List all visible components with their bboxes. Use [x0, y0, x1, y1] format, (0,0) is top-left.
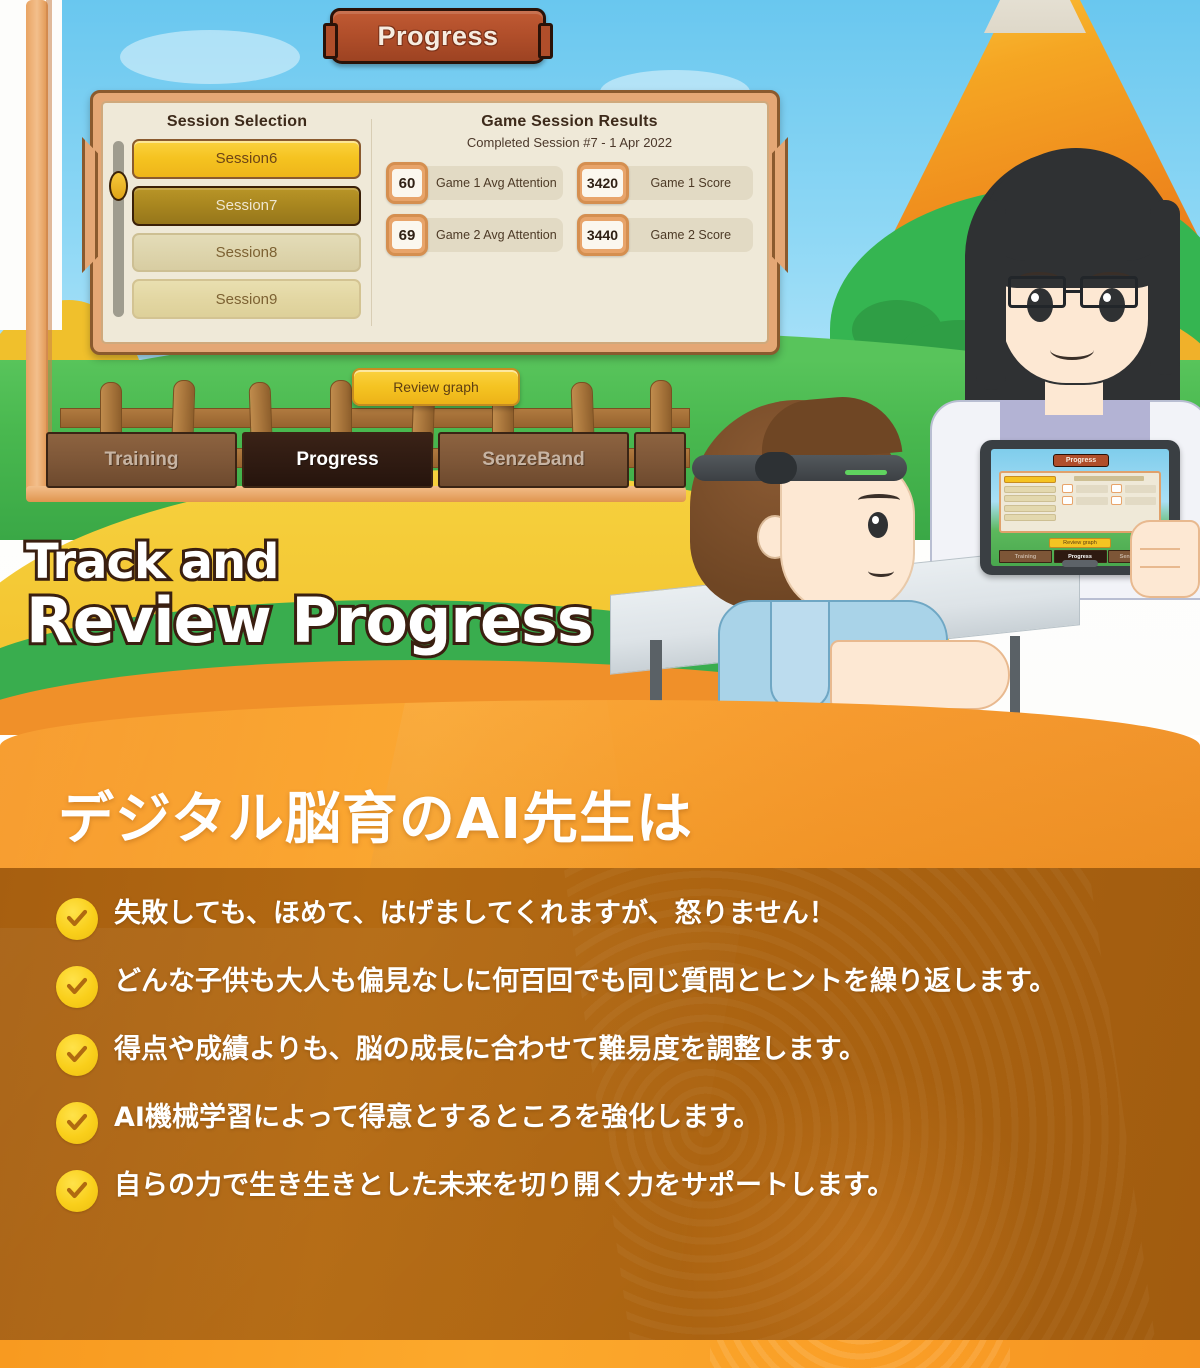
bullet-item-2: どんな子供も大人も偏見なしに何百回でも同じ質問とヒントを繰り返します。	[56, 964, 1160, 1008]
progress-panel-frame: Session Selection Session6 Session7 Sess…	[90, 90, 780, 355]
hand-crease	[1140, 566, 1180, 568]
tablet-review-button: Review graph	[1049, 538, 1111, 548]
headline-block: Track and Review Progress	[26, 538, 593, 652]
boy-mouth	[868, 565, 894, 577]
bullet-text: AI機械学習によって得意とするところを強化します。	[114, 1100, 760, 1137]
session-item-3[interactable]: Session8	[132, 233, 361, 273]
tablet-metric-label	[1076, 485, 1108, 493]
metric-game2-score: 3440 Game 2 Score	[577, 214, 754, 256]
cloud-icon	[120, 30, 300, 84]
tablet-metric-row	[1062, 484, 1156, 493]
bullet-text: 失敗しても、ほめて、はげましてくれますが、怒りません！	[114, 896, 836, 933]
session-item-1[interactable]: Session6	[132, 139, 361, 179]
tablet-session-item	[1004, 486, 1056, 493]
tab-training[interactable]: Training	[46, 432, 237, 488]
metric-value: 60	[392, 169, 422, 197]
device-bezel-inner-left	[46, 0, 52, 492]
review-graph-button[interactable]: Review graph	[352, 368, 520, 406]
check-icon	[56, 1170, 98, 1212]
tablet-metric-label	[1125, 485, 1157, 493]
glasses-icon	[1080, 276, 1138, 308]
metric-label: Game 2 Score	[623, 218, 754, 252]
session-item-2[interactable]: Session7	[132, 186, 361, 226]
bottom-swirl	[710, 1340, 1010, 1368]
metric-value-chip: 3420	[577, 162, 629, 204]
glasses-bridge	[1064, 290, 1082, 293]
check-icon	[56, 966, 98, 1008]
tablet-metric-chip	[1062, 484, 1073, 493]
metric-value: 3420	[582, 169, 623, 197]
metric-value-chip: 60	[386, 162, 428, 204]
metric-label: Game 2 Avg Attention	[422, 218, 563, 252]
bottom-accent-strip	[0, 1340, 1200, 1368]
bullet-text: どんな子供も大人も偏見なしに何百回でも同じ質問とヒントを繰り返します。	[114, 964, 1056, 1001]
girl-hand	[1130, 520, 1200, 598]
device-bezel-bottom	[26, 486, 686, 502]
girl-hair-side-right	[1150, 200, 1180, 375]
screen-title-sign: Progress	[330, 8, 546, 64]
promo-bullet-list: 失敗しても、ほめて、はげましてくれますが、怒りません！ どんな子供も大人も偏見な…	[0, 868, 1200, 1236]
scrollbar-thumb[interactable]	[109, 171, 128, 201]
page-root: Progress Session Selection Session6 Sess…	[0, 0, 1200, 1368]
results-subheading: Completed Session #7 - 1 Apr 2022	[386, 135, 753, 150]
tablet-metric-chip	[1062, 496, 1073, 505]
tab-progress[interactable]: Progress	[242, 432, 433, 488]
tablet-metric-row	[1062, 496, 1156, 505]
boy-sleeve	[770, 600, 830, 710]
metric-value: 3440	[582, 221, 623, 249]
session-item-4[interactable]: Session9	[132, 279, 361, 319]
girl-mouth	[1050, 340, 1094, 360]
results-heading: Game Session Results	[386, 113, 753, 131]
senzeband-led-indicator	[845, 470, 887, 475]
metric-game2-attention: 69 Game 2 Avg Attention	[386, 214, 563, 256]
bottom-tab-bar: Training Progress SenzeBand	[46, 432, 686, 488]
senzeband-sensor-node	[755, 452, 797, 484]
bullet-item-5: 自らの力で生き生きとした未来を切り開く力をサポートします。	[56, 1168, 1160, 1212]
fence-rail	[60, 408, 690, 428]
hand-crease	[1140, 548, 1180, 550]
tablet-session-list	[1001, 473, 1059, 531]
bullet-item-3: 得点や成績よりも、脳の成長に合わせて難易度を調整します。	[56, 1032, 1160, 1076]
session-selection-column: Session Selection Session6 Session7 Sess…	[103, 103, 371, 342]
progress-panel: Session Selection Session6 Session7 Sess…	[101, 101, 769, 344]
tab-senzeband[interactable]: SenzeBand	[438, 432, 629, 488]
tablet-session-item	[1004, 495, 1056, 502]
headline-line-2: Review Progress	[26, 590, 593, 652]
device-bezel-left	[26, 0, 48, 500]
metric-value: 69	[392, 221, 422, 249]
results-column: Game Session Results Completed Session #…	[372, 103, 767, 342]
girl-bangs	[980, 215, 1172, 261]
metric-game1-score: 3420 Game 1 Score	[577, 162, 754, 204]
bullet-text: 得点や成績よりも、脳の成長に合わせて難易度を調整します。	[114, 1032, 866, 1069]
tablet-session-item	[1004, 514, 1056, 521]
bullet-item-4: AI機械学習によって得意とするところを強化します。	[56, 1100, 1160, 1144]
session-list: Session6 Session7 Session8 Session9	[132, 139, 361, 319]
boy-eye-highlight	[872, 516, 879, 524]
metric-value-chip: 69	[386, 214, 428, 256]
tablet-metric-chip	[1111, 484, 1122, 493]
metric-label: Game 1 Avg Attention	[422, 166, 563, 200]
girl-hair-side-left	[976, 200, 1006, 390]
check-icon	[56, 1102, 98, 1144]
results-grid: 60 Game 1 Avg Attention 3420 Game 1 Scor…	[386, 162, 753, 256]
tablet-session-item	[1004, 476, 1056, 483]
tablet-session-item	[1004, 505, 1056, 512]
check-icon	[56, 1034, 98, 1076]
tablet-metric-label	[1076, 497, 1108, 505]
metric-value-chip: 3440	[577, 214, 629, 256]
app-screenshot-scene: Progress Session Selection Session6 Sess…	[0, 0, 1200, 735]
tablet-metric-label	[1125, 497, 1157, 505]
metric-game1-attention: 60 Game 1 Avg Attention	[386, 162, 563, 204]
tablet-tab-training: Training	[999, 550, 1052, 563]
page-title: Progress	[377, 21, 498, 52]
metric-label: Game 1 Score	[623, 166, 754, 200]
check-icon	[56, 898, 98, 940]
boy-eye	[868, 512, 888, 538]
session-selection-heading: Session Selection	[113, 113, 361, 131]
session-list-scrollbar[interactable]	[113, 141, 124, 317]
bullet-item-1: 失敗しても、ほめて、はげましてくれますが、怒りません！	[56, 896, 1160, 940]
boy-eyebrow	[858, 494, 900, 506]
bullet-text: 自らの力で生き生きとした未来を切り開く力をサポートします。	[114, 1168, 894, 1205]
tab-overflow[interactable]	[634, 432, 686, 488]
tablet-home-button	[1062, 560, 1098, 567]
senzeband-headband	[692, 455, 907, 481]
glasses-icon	[1008, 276, 1066, 308]
tablet-metric-chip	[1111, 496, 1122, 505]
headline-line-1: Track and	[26, 538, 593, 586]
tablet-title: Progress	[1053, 454, 1109, 467]
promo-title: デジタル脳育のAI先生は	[58, 774, 693, 855]
tablet-results-heading	[1074, 476, 1144, 481]
